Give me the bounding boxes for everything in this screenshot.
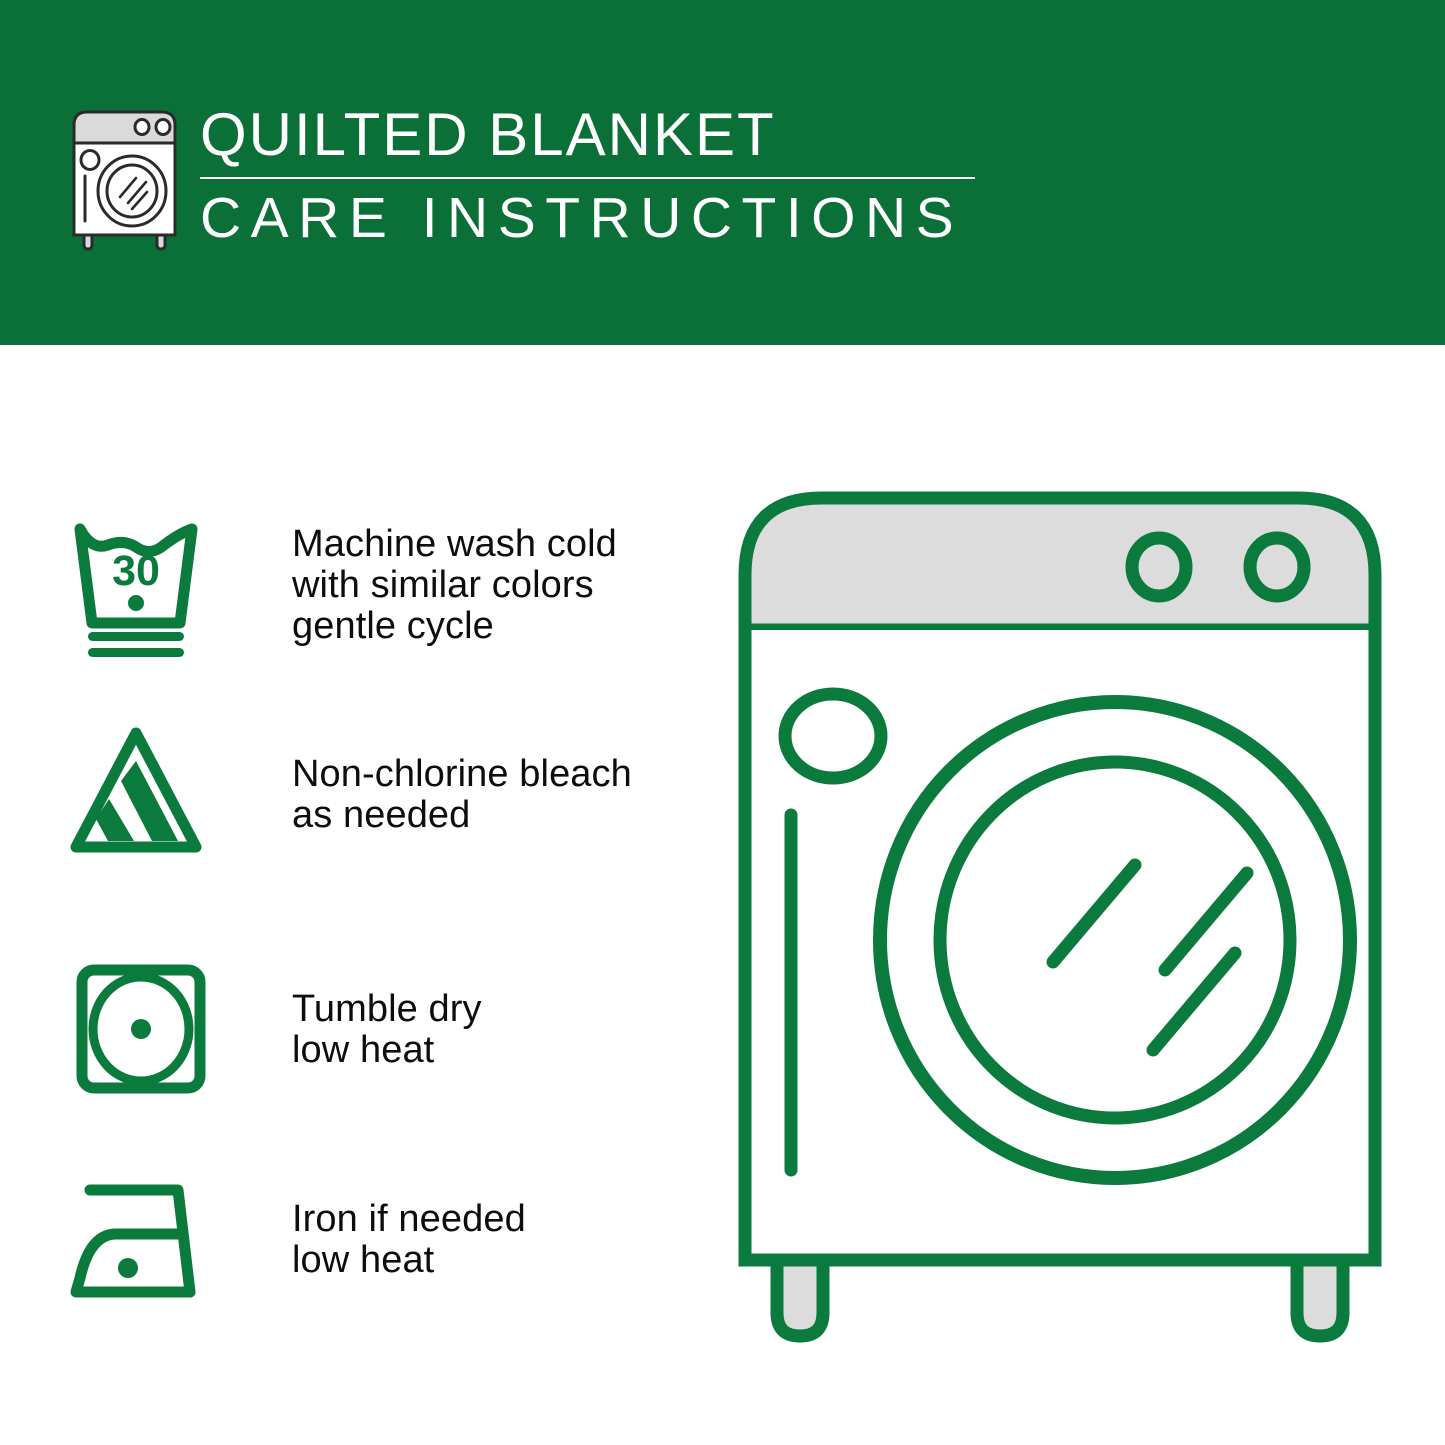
control-knob-icon (1250, 538, 1304, 596)
care-row: 30 Machine wash cold with similar colors… (0, 495, 700, 675)
page-subtitle: CARE INSTRUCTIONS (200, 188, 990, 248)
wash-temperature-label: 30 (112, 547, 160, 595)
tumble-dry-low-heat-icon (68, 950, 238, 1110)
non-chlorine-bleach-triangle-icon (68, 715, 238, 875)
washer-leg (1297, 1260, 1343, 1336)
care-instruction-text: Iron if needed low heat (292, 1199, 526, 1281)
care-instruction-list: 30 Machine wash cold with similar colors… (0, 345, 700, 1445)
care-row: Non-chlorine bleach as needed (0, 705, 700, 885)
care-instruction-text: Tumble dry low heat (292, 989, 482, 1071)
wash-tub-30-gentle-icon: 30 (68, 505, 238, 665)
care-row: Tumble dry low heat (0, 940, 700, 1120)
washer-leg (777, 1260, 823, 1336)
control-knob-icon (1132, 538, 1186, 596)
care-instruction-text: Non-chlorine bleach as needed (292, 754, 632, 836)
care-instruction-text: Machine wash cold with similar colors ge… (292, 524, 617, 647)
care-row: Iron if needed low heat (0, 1150, 700, 1330)
iron-low-heat-icon (68, 1160, 238, 1320)
care-instructions-page: QUILTED BLANKET CARE INSTRUCTIONS 30 (0, 0, 1445, 1445)
washing-machine-illustration (715, 470, 1405, 1360)
header-banner: QUILTED BLANKET CARE INSTRUCTIONS (0, 0, 1445, 345)
page-title: QUILTED BLANKET (200, 104, 990, 166)
washing-machine-icon (62, 103, 187, 251)
title-divider (200, 177, 975, 179)
header-text-block: QUILTED BLANKET CARE INSTRUCTIONS (200, 104, 990, 248)
